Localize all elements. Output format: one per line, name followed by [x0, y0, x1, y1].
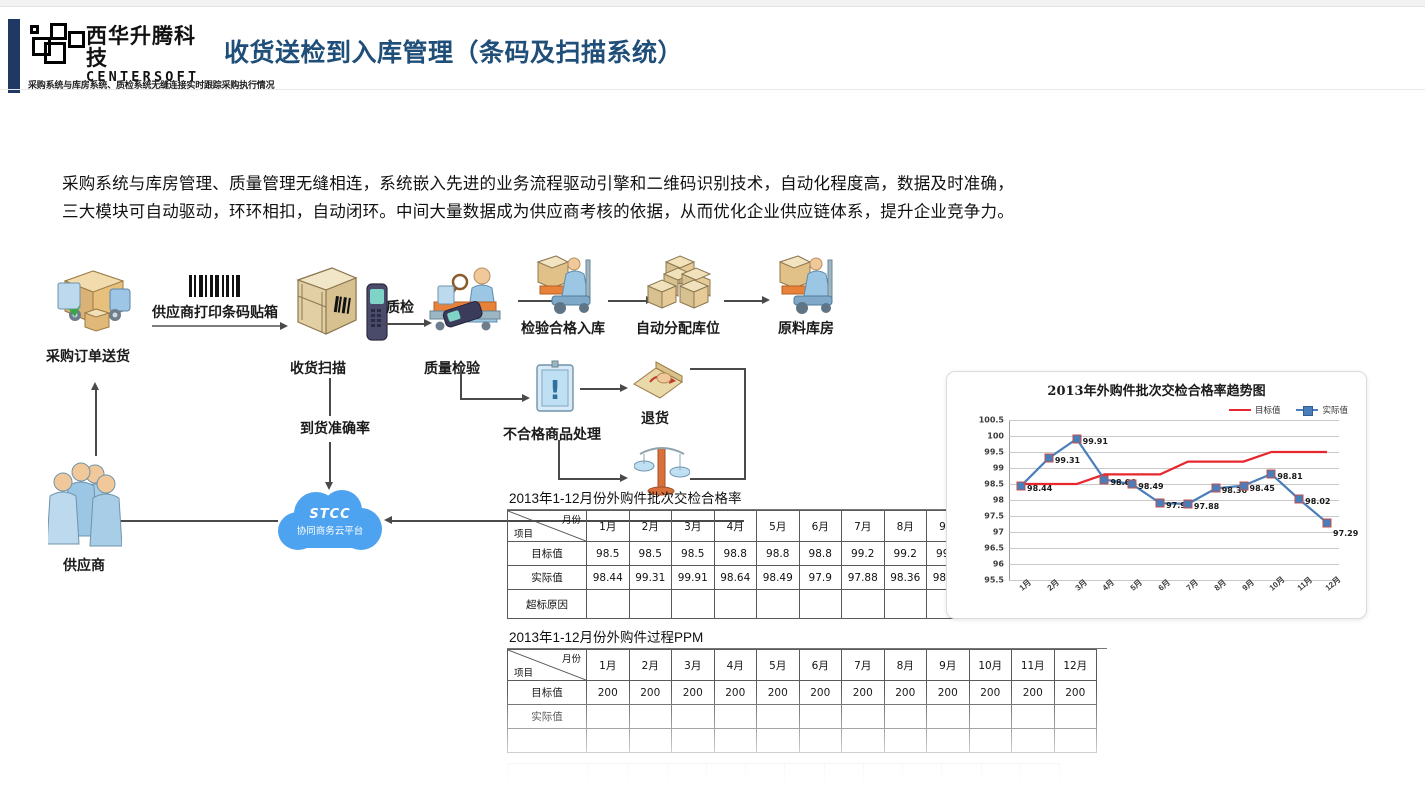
- cell: [672, 705, 715, 729]
- row-label: 实际值: [508, 788, 589, 808]
- cell: 98.8: [757, 542, 800, 566]
- col-header: 6月: [799, 650, 842, 681]
- chart-plot-area: 100.510099.59998.59897.59796.59695.51月2月…: [1009, 420, 1339, 580]
- corner-top-label: 月份: [562, 512, 581, 526]
- row-label: 目标值: [508, 681, 587, 705]
- chart-data-point: [1044, 454, 1053, 463]
- forklift-instock-icon: [530, 250, 598, 321]
- col-header: 6月: [799, 511, 842, 542]
- flow-arrow-1: [152, 325, 280, 327]
- cell: [714, 729, 757, 753]
- row-label: [508, 729, 587, 753]
- col-header: 2月: [629, 511, 672, 542]
- chart-data-label: 97.29: [1333, 529, 1358, 538]
- flow-label-supplier: 供应商: [63, 555, 105, 575]
- flow-label-return-goods: 退货: [641, 408, 669, 428]
- legend-line-actual-icon: [1296, 409, 1318, 411]
- flow-return-bottom: [690, 478, 746, 480]
- cell: [757, 590, 800, 619]
- cell: 200: [1054, 681, 1097, 705]
- cell: 99.2: [842, 542, 885, 566]
- flow-arrowhead-8: [620, 474, 628, 482]
- row-label: [508, 764, 589, 788]
- table-row: 实际值: [508, 705, 1097, 729]
- chart-data-point: [1017, 481, 1026, 490]
- cell: [799, 729, 842, 753]
- col-header: 3月: [672, 511, 715, 542]
- legend-label-actual: 实际值: [1322, 404, 1348, 416]
- chart-data-point: [1156, 499, 1165, 508]
- chart-data-point: [1128, 480, 1137, 489]
- flow-arrow-6: [460, 398, 522, 400]
- cell: [1012, 729, 1055, 753]
- cell: 200: [969, 681, 1012, 705]
- legend-label-target: 目标值: [1255, 404, 1281, 416]
- chart-data-label: 99.91: [1083, 437, 1108, 446]
- brand-wordmark: 西华升腾科技 CENTERSOFT: [86, 25, 216, 85]
- flow-accuracy-line-top: [329, 378, 331, 416]
- barcode-icon: [189, 275, 240, 297]
- cell: [842, 705, 885, 729]
- chart-y-tick: 96: [993, 560, 1004, 569]
- cell: [799, 705, 842, 729]
- cell: [667, 764, 706, 788]
- flow-label-arrival-accuracy: 到货准确率: [300, 418, 370, 438]
- cloud-brand: STCC: [278, 507, 382, 522]
- reject-handle-icon: !: [533, 359, 577, 420]
- quality-inspect-icon: [424, 260, 506, 349]
- lead-paragraph: 采购系统与库房管理、质量管理无缝相连，系统嵌入先进的业务流程驱动引擎和二维码识别…: [62, 170, 1102, 226]
- cell: [969, 729, 1012, 753]
- lead-line-2: 三大模块可自动驱动，环环相扣，自动闭环。中间大量数据成为供应商考核的依据，从而优…: [62, 198, 1102, 226]
- cell: 97.9: [799, 566, 842, 590]
- col-header: 12月: [1054, 650, 1097, 681]
- cell: [587, 729, 630, 753]
- col-header: 3月: [672, 650, 715, 681]
- po-delivery-icon: [55, 265, 133, 344]
- cloud-label: 协同商务云平台: [278, 523, 382, 537]
- cell: 98.8: [799, 542, 842, 566]
- flow-arrowhead-6: [522, 394, 530, 402]
- flow-arrowhead-5: [762, 296, 770, 304]
- col-header: 8月: [884, 650, 927, 681]
- flow-arrow-7: [580, 388, 620, 390]
- ppm-table: 月份 项目 1月 2月 3月 4月 5月 6月 7月 8月 9月 10月 11月…: [507, 649, 1097, 753]
- cell: [863, 788, 902, 808]
- cell: [714, 705, 757, 729]
- cell: [706, 764, 745, 788]
- chart-y-tick: 97.5: [984, 512, 1004, 521]
- chart-y-tick: 97: [993, 528, 1004, 537]
- chart-data-label: 98.81: [1277, 472, 1302, 481]
- cell: [589, 764, 628, 788]
- flow-label-auto-bin: 自动分配库位: [636, 318, 720, 338]
- chart-data-label: 99.31: [1055, 456, 1080, 465]
- cell: [629, 729, 672, 753]
- cell: [824, 788, 863, 808]
- col-header: 1月: [587, 650, 630, 681]
- chart-data-label: 98.44: [1027, 484, 1052, 493]
- slide-header: 西华升腾科技 CENTERSOFT 收货送检到入库管理（条码及扫描系统） 采购系…: [0, 7, 1425, 90]
- chart-legend: 目标值 实际值: [1229, 404, 1348, 416]
- chart-title: 2013年外购件批次交检合格率趋势图: [947, 380, 1366, 399]
- chart-data-label: 98.45: [1250, 484, 1275, 493]
- lead-line-1: 采购系统与库房管理、质量管理无缝相连，系统嵌入先进的业务流程驱动引擎和二维码识别…: [62, 170, 1102, 198]
- auto-bin-icon: [640, 254, 720, 321]
- ghost-table: 实际值 目标值 200 200 200 200 200 200 200 200 …: [507, 763, 1060, 808]
- cell: 98.5: [629, 542, 672, 566]
- table-corner-cell: 月份 项目: [508, 511, 587, 542]
- cell: 99.91: [672, 566, 715, 590]
- cell: [1054, 705, 1097, 729]
- col-header: 2月: [629, 650, 672, 681]
- flow-label-pass-instock: 检验合格入库: [521, 318, 605, 338]
- flow-return-vert: [744, 368, 746, 480]
- cell: 200: [714, 681, 757, 705]
- cell: [628, 788, 667, 808]
- supplier-icon: [48, 458, 122, 555]
- flow-accuracy-line-bottom: [329, 442, 331, 482]
- cell: [672, 729, 715, 753]
- col-header: 7月: [842, 650, 885, 681]
- flow-branch-down-2: [558, 440, 560, 480]
- chart-y-tick: 95.5: [984, 576, 1004, 585]
- chart-data-label: 98.49: [1138, 482, 1163, 491]
- chart-data-point: [1072, 434, 1081, 443]
- brand-name-cn: 西华升腾科技: [86, 25, 216, 69]
- cell: [927, 729, 970, 753]
- chart-data-point: [1295, 495, 1304, 504]
- header-divider: [0, 89, 1425, 90]
- flow-arrowhead-7: [620, 384, 628, 392]
- receive-scan-icon: [288, 262, 364, 347]
- flow-arrow-8: [558, 478, 620, 480]
- flow-label-quality-inspect: 质量检验: [424, 358, 480, 378]
- legend-item-target: 目标值: [1229, 404, 1281, 416]
- col-header: 4月: [714, 650, 757, 681]
- cell: [969, 705, 1012, 729]
- row-label: 目标值: [508, 542, 587, 566]
- cell: [785, 788, 824, 808]
- flow-arrow-5: [724, 300, 762, 302]
- centersoft-logo-icon: [30, 23, 82, 67]
- cell: [757, 705, 800, 729]
- cell: 200: [927, 681, 970, 705]
- cell: 98.36: [884, 566, 927, 590]
- flow-branch-down: [460, 366, 462, 400]
- cell: [628, 764, 667, 788]
- cell: 200: [799, 681, 842, 705]
- chart-data-point: [1267, 470, 1276, 479]
- chart-y-tick: 99: [993, 464, 1004, 473]
- cell: [942, 764, 981, 788]
- cloud-platform-node: STCC 协同商务云平台: [278, 490, 382, 552]
- table-row: [508, 764, 1060, 788]
- col-header: 5月: [757, 650, 800, 681]
- table-header-row: 月份 项目 1月 2月 3月 4月 5月 6月 7月 8月 9月 10月 11月…: [508, 650, 1097, 681]
- flow-label-po-delivery: 采购订单送货: [46, 346, 130, 366]
- cell: 97.88: [842, 566, 885, 590]
- legend-line-target-icon: [1229, 409, 1251, 411]
- flow-label-reject-handle: 不合格商品处理: [503, 424, 601, 444]
- flow-arrowhead-to-cloud: [384, 516, 392, 524]
- cell: [903, 764, 942, 788]
- cell: [927, 705, 970, 729]
- legend-item-actual: 实际值: [1296, 404, 1348, 416]
- header-accent-bar: [8, 19, 20, 93]
- cell: [842, 729, 885, 753]
- cell: [1020, 788, 1059, 808]
- material-warehouse-icon: [772, 250, 840, 321]
- cell: 98.44: [587, 566, 630, 590]
- col-header: 4月: [714, 511, 757, 542]
- cell: [981, 788, 1020, 808]
- row-label: 实际值: [508, 566, 587, 590]
- chart-data-point: [1323, 518, 1332, 527]
- chart-y-tick: 98.5: [984, 480, 1004, 489]
- row-label: 超标原因: [508, 590, 587, 619]
- chart-data-point: [1183, 499, 1192, 508]
- cell: [842, 590, 885, 619]
- cell: [824, 764, 863, 788]
- cell: [884, 729, 927, 753]
- slide-page: 西华升腾科技 CENTERSOFT 收货送检到入库管理（条码及扫描系统） 采购系…: [0, 0, 1425, 808]
- table-caption-ppm: 2013年1-12月份外购件过程PPM: [507, 625, 1107, 649]
- cell: [884, 590, 927, 619]
- cell: [884, 705, 927, 729]
- col-header: 10月: [969, 650, 1012, 681]
- col-header: 1月: [587, 511, 630, 542]
- col-header: 8月: [884, 511, 927, 542]
- cell: [942, 788, 981, 808]
- page-title: 收货送检到入库管理（条码及扫描系统）: [224, 33, 683, 69]
- cell: 200: [842, 681, 885, 705]
- col-header: 7月: [842, 511, 885, 542]
- cell: [587, 705, 630, 729]
- table-corner-cell: 月份 项目: [508, 650, 587, 681]
- flow-label-material-warehouse: 原料库房: [778, 318, 834, 338]
- chart-y-tick: 98: [993, 496, 1004, 505]
- table-row: 实际值: [508, 788, 1060, 808]
- cell: [1054, 729, 1097, 753]
- col-header: 9月: [927, 650, 970, 681]
- table-row: [508, 729, 1097, 753]
- cell: [706, 788, 745, 808]
- chart-y-tick: 96.5: [984, 544, 1004, 553]
- cell: 98.8: [714, 542, 757, 566]
- row-label: 实际值: [508, 705, 587, 729]
- cell: 200: [672, 681, 715, 705]
- chart-y-tick: 100: [987, 432, 1004, 441]
- cell: [746, 788, 785, 808]
- cell: [746, 764, 785, 788]
- cell: [587, 590, 630, 619]
- trend-chart-panel: 2013年外购件批次交检合格率趋势图 目标值 实际值 100.510099.59…: [946, 371, 1367, 619]
- chart-y-tick: 99.5: [984, 448, 1004, 457]
- chart-y-tick: 100.5: [979, 416, 1004, 425]
- top-strip: [0, 0, 1425, 7]
- cell: 200: [629, 681, 672, 705]
- chart-data-point: [1239, 481, 1248, 490]
- chart-data-point: [1211, 484, 1220, 493]
- corner-top-label: 月份: [562, 651, 581, 665]
- chart-series-svg: [1009, 420, 1339, 580]
- cell: 99.2: [884, 542, 927, 566]
- cell: [863, 764, 902, 788]
- flow-label-qc: 质检: [386, 297, 414, 317]
- cell: [629, 590, 672, 619]
- cell: [667, 788, 706, 808]
- cell: [799, 590, 842, 619]
- flow-arrowhead-1: [280, 322, 288, 330]
- cell: 99.31: [629, 566, 672, 590]
- cell: [589, 788, 628, 808]
- corner-bottom-label: 项目: [514, 526, 533, 540]
- cell: [629, 705, 672, 729]
- flow-arrowhead-cloud-in: [325, 482, 333, 490]
- cell: 98.5: [587, 542, 630, 566]
- cell: [757, 729, 800, 753]
- cell: [714, 590, 757, 619]
- cell: [1020, 764, 1059, 788]
- cell: [981, 764, 1020, 788]
- flow-return-top: [690, 368, 746, 370]
- cell: 200: [587, 681, 630, 705]
- cell: 200: [1012, 681, 1055, 705]
- cell: 200: [757, 681, 800, 705]
- svg-text:!: !: [549, 376, 561, 406]
- flow-label-receive-scan: 收货扫描: [290, 358, 346, 378]
- chart-data-label: 98.02: [1305, 497, 1330, 506]
- cell: 98.5: [672, 542, 715, 566]
- col-header: 5月: [757, 511, 800, 542]
- return-goods-icon: [630, 358, 686, 409]
- cell: [785, 764, 824, 788]
- flow-arrow-2: [384, 323, 424, 325]
- chart-data-label: 97.88: [1194, 502, 1219, 511]
- cell: 98.49: [757, 566, 800, 590]
- flow-supplier-to-po: [95, 390, 97, 456]
- flow-cloud-to-supplier: [112, 520, 278, 522]
- cell: [903, 788, 942, 808]
- flow-label-barcode-print: 供应商打印条码贴箱: [152, 302, 278, 322]
- cell: 98.64: [714, 566, 757, 590]
- table-row: 目标值 200 200 200 200 200 200 200 200 200 …: [508, 681, 1097, 705]
- col-header: 11月: [1012, 650, 1055, 681]
- cell: [1012, 705, 1055, 729]
- cell: 200: [884, 681, 927, 705]
- flow-arrowhead-po: [91, 382, 99, 390]
- corner-bottom-label: 项目: [514, 665, 533, 679]
- chart-data-point: [1100, 475, 1109, 484]
- cell: [672, 590, 715, 619]
